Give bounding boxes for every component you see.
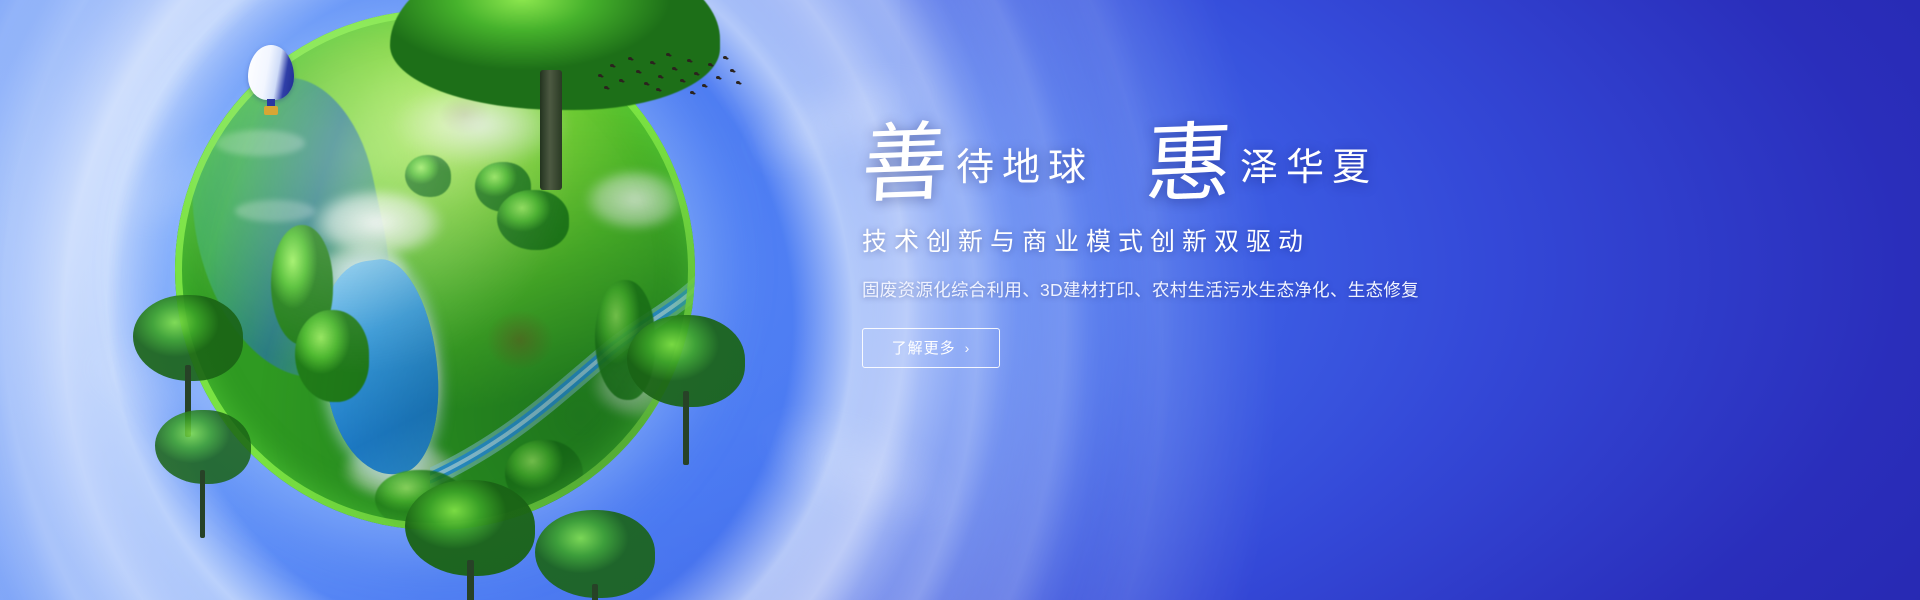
learn-more-button[interactable]: 了解更多 › [862, 328, 1000, 368]
lake-feature [312, 254, 449, 481]
chevron-right-icon: › [965, 340, 971, 356]
surface-cloud-2 [303, 235, 423, 305]
lake-shore [301, 243, 464, 493]
hero-copy: 善 待地球 惠 泽华夏 技术创新与商业模式创新双驱动 固废资源化综合利用、3D建… [862, 128, 1622, 368]
bush-4 [271, 225, 333, 345]
hero-subtitle: 技术创新与商业模式创新双驱动 [862, 222, 1622, 258]
hero-banner: 善 待地球 惠 泽华夏 技术创新与商业模式创新双驱动 固废资源化综合利用、3D建… [0, 0, 1920, 600]
side-tree-bottom [405, 480, 535, 600]
title-lead-char-1: 善 [860, 127, 950, 204]
hot-air-balloon-icon [248, 45, 294, 117]
title-rest-2: 泽华夏 [1240, 148, 1378, 186]
surface-cloud-1 [293, 178, 463, 268]
side-tree-left-2 [155, 410, 251, 550]
side-tree-bottom-2 [535, 510, 655, 600]
side-tree-right [627, 315, 745, 475]
bush-3 [497, 190, 569, 250]
bush-5 [295, 310, 369, 402]
soil-patch-1 [475, 300, 565, 380]
page-title: 善 待地球 惠 泽华夏 [862, 128, 1622, 202]
title-lead-char-2: 惠 [1144, 127, 1234, 204]
learn-more-label: 了解更多 [892, 337, 956, 358]
title-rest-1: 待地球 [956, 148, 1094, 186]
hero-description: 固废资源化综合利用、3D建材打印、农村生活污水生态净化、生态修复 [862, 277, 1622, 302]
bird-flock-icon [592, 48, 742, 96]
